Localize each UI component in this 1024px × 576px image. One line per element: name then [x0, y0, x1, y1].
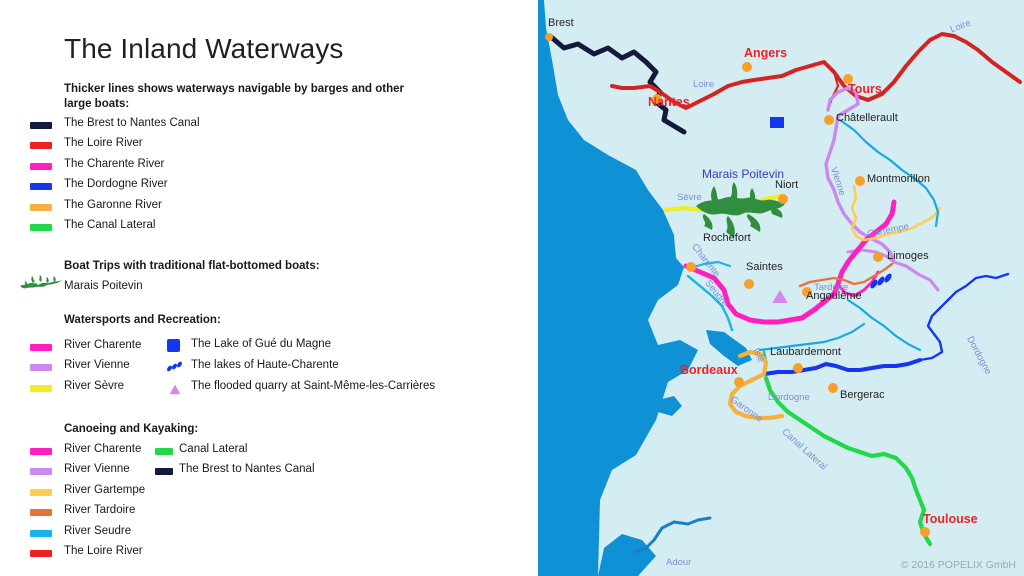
city-label-montmorillon[interactable]: Montmorillon	[867, 173, 930, 185]
marsh-icon	[18, 272, 64, 294]
legend-swatch	[30, 550, 52, 557]
page-title: The Inland Waterways	[64, 33, 344, 65]
legend-label: River Vienne	[64, 463, 130, 475]
city-label-limoges[interactable]: Limoges	[887, 250, 929, 262]
river-label-sevre: Sèvre	[677, 192, 702, 203]
legend-label: The Dordogne River	[64, 178, 168, 190]
legend-label: The flooded quarry at Saint-Même-les-Car…	[191, 380, 435, 392]
legend-swatch	[30, 364, 52, 371]
section-heading-watersports: Watersports and Recreation:	[64, 313, 464, 328]
lake-square-icon	[167, 339, 180, 352]
legend-label: River Sèvre	[64, 380, 124, 392]
city-dot-montmorillon[interactable]	[855, 176, 865, 186]
city-dot-laubardemont[interactable]	[793, 363, 803, 373]
map-canvas[interactable]: Brest Nantes Angers Tours Châtellerault …	[538, 0, 1024, 576]
legend-label: Canal Lateral	[179, 443, 247, 455]
city-label-bordeaux[interactable]: Bordeaux	[680, 363, 738, 377]
city-label-nantes[interactable]: Nantes	[648, 95, 690, 109]
waterways-infographic: The Inland Waterways Thicker lines shows…	[0, 0, 1024, 576]
city-label-saintes[interactable]: Saintes	[746, 261, 783, 273]
section-heading-barges: Thicker lines shows waterways navigable …	[64, 82, 414, 111]
section-heading-boat-trips: Boat Trips with traditional flat-bottome…	[64, 259, 464, 274]
city-dot-bordeaux[interactable]	[734, 377, 744, 387]
legend-swatch	[30, 183, 52, 190]
river-label-dordogne-1: Dordogne	[768, 392, 810, 403]
legend-swatch	[30, 530, 52, 537]
legend-label: The Loire River	[64, 545, 143, 557]
map-svg	[538, 0, 1024, 576]
legend-swatch	[30, 448, 52, 455]
city-label-chatellerault[interactable]: Châtellerault	[836, 112, 898, 124]
legend-swatch	[30, 468, 52, 475]
area-label-marais-poitevin: Marais Poitevin	[702, 167, 784, 181]
river-label-adour: Adour	[666, 557, 691, 568]
legend-swatch	[30, 163, 52, 170]
legend-swatch	[155, 468, 173, 475]
city-label-laubardemont[interactable]: Laubardemont	[770, 346, 841, 358]
city-dot-bergerac[interactable]	[828, 383, 838, 393]
city-label-angers[interactable]: Angers	[744, 46, 787, 60]
city-label-tours[interactable]: Tours	[848, 82, 882, 96]
legend-swatch	[30, 122, 52, 129]
quarry-triangle-icon	[169, 382, 181, 400]
copyright-notice: © 2016 POPELIX GmbH	[901, 559, 1016, 571]
city-dot-brest[interactable]	[545, 33, 553, 41]
legend-label: The Lake of Gué du Magne	[191, 338, 331, 350]
legend-label: River Tardoire	[64, 504, 135, 516]
section-heading-canoeing: Canoeing and Kayaking:	[64, 422, 464, 437]
legend-label: River Vienne	[64, 359, 130, 371]
city-label-brest[interactable]: Brest	[548, 17, 574, 29]
legend-label: River Seudre	[64, 525, 131, 537]
city-dot-niort[interactable]	[778, 194, 788, 204]
legend-swatch	[30, 489, 52, 496]
lake-gue-du-magne-marker	[770, 117, 784, 128]
city-dot-angers[interactable]	[742, 62, 752, 72]
legend-label: The Canal Lateral	[64, 219, 155, 231]
legend-label: The Loire River	[64, 137, 143, 149]
legend-label: The Charente River	[64, 158, 164, 170]
legend-label: River Gartempe	[64, 484, 145, 496]
legend-swatch	[155, 448, 173, 455]
city-dot-chatellerault[interactable]	[824, 115, 834, 125]
legend-label: The Garonne River	[64, 199, 162, 211]
legend-label: The lakes of Haute-Charente	[191, 359, 339, 371]
city-dot-saintes[interactable]	[744, 279, 754, 289]
legend-swatch	[30, 385, 52, 392]
city-dot-toulouse[interactable]	[920, 527, 930, 537]
river-label-tardoire: Tardoire	[814, 282, 848, 293]
river-label-loire-1: Loire	[693, 79, 714, 90]
legend-swatch	[30, 509, 52, 516]
city-dot-rochefort[interactable]	[686, 262, 696, 272]
city-label-toulouse[interactable]: Toulouse	[923, 512, 978, 526]
legend-label: The Brest to Nantes Canal	[179, 463, 315, 475]
legend-label: River Charente	[64, 339, 141, 351]
city-label-rochefort[interactable]: Rochefort	[703, 232, 751, 244]
city-label-bergerac[interactable]: Bergerac	[840, 389, 885, 401]
legend-swatch	[30, 344, 52, 351]
river-loire-west-stub	[612, 86, 634, 88]
legend-label-marais-poitevin: Marais Poitevin	[64, 280, 143, 292]
legend-swatch	[30, 224, 52, 231]
legend-label: The Brest to Nantes Canal	[64, 117, 200, 129]
city-dot-limoges[interactable]	[873, 252, 883, 262]
legend-swatch	[30, 142, 52, 149]
legend-label: River Charente	[64, 443, 141, 455]
legend-panel: The Inland Waterways Thicker lines shows…	[0, 0, 538, 576]
lakes-slashes-icon	[166, 360, 183, 378]
legend-swatch	[30, 204, 52, 211]
